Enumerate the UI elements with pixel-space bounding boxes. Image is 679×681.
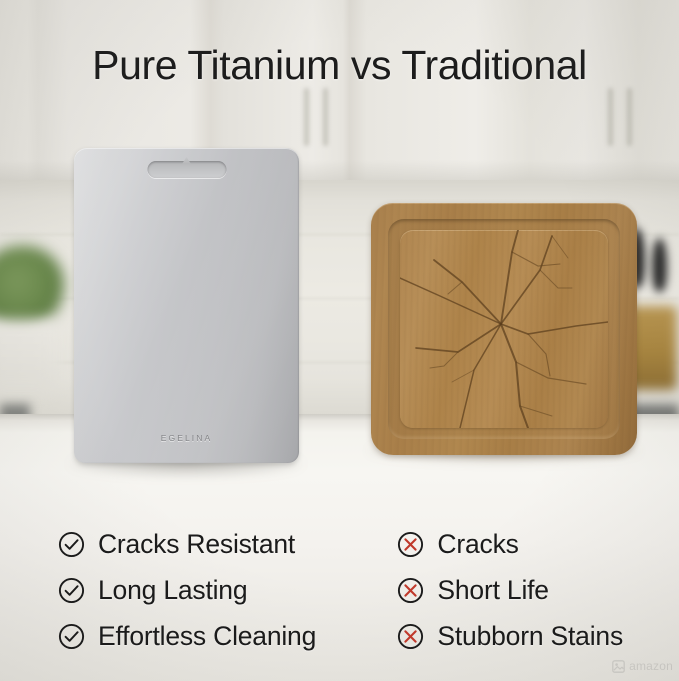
- feature-row: Effortless Cleaning: [58, 620, 397, 652]
- feature-label: Cracks: [437, 529, 518, 560]
- check-circle-icon: [58, 531, 85, 558]
- wooden-cutting-board: [371, 203, 637, 455]
- wooden-board-surface: [400, 230, 608, 428]
- wooden-cons-column: Cracks Short Life Stubborn Stains: [397, 528, 623, 652]
- x-circle-icon: [397, 623, 424, 650]
- feature-label: Cracks Resistant: [98, 529, 295, 560]
- feature-row: Long Lasting: [58, 574, 397, 606]
- check-circle-icon: [58, 623, 85, 650]
- product-comparison-image: Pure Titanium vs Traditional EGELINA: [0, 0, 679, 681]
- feature-row: Stubborn Stains: [397, 620, 623, 652]
- feature-label: Stubborn Stains: [437, 621, 623, 652]
- x-circle-icon: [397, 577, 424, 604]
- feature-row: Short Life: [397, 574, 623, 606]
- watermark-text: amazon: [629, 659, 673, 673]
- brand-engraving: EGELINA: [74, 433, 299, 443]
- feature-label: Effortless Cleaning: [98, 621, 316, 652]
- wood-cracks-icon: [400, 230, 608, 428]
- feature-label: Long Lasting: [98, 575, 247, 606]
- x-circle-icon: [397, 531, 424, 558]
- titanium-pros-column: Cracks Resistant Long Lasting Effortless…: [58, 528, 397, 652]
- watermark-logo-icon: [612, 660, 625, 673]
- page-title: Pure Titanium vs Traditional: [0, 42, 679, 89]
- feature-label: Short Life: [437, 575, 548, 606]
- feature-comparison-list: Cracks Resistant Long Lasting Effortless…: [0, 528, 679, 652]
- check-circle-icon: [58, 577, 85, 604]
- feature-row: Cracks Resistant: [58, 528, 397, 560]
- watermark: amazon: [612, 659, 673, 673]
- utensil-spatula: [652, 238, 667, 292]
- feature-row: Cracks: [397, 528, 623, 560]
- titanium-cutting-board: EGELINA: [74, 148, 299, 463]
- potted-plant-pot: [0, 320, 60, 392]
